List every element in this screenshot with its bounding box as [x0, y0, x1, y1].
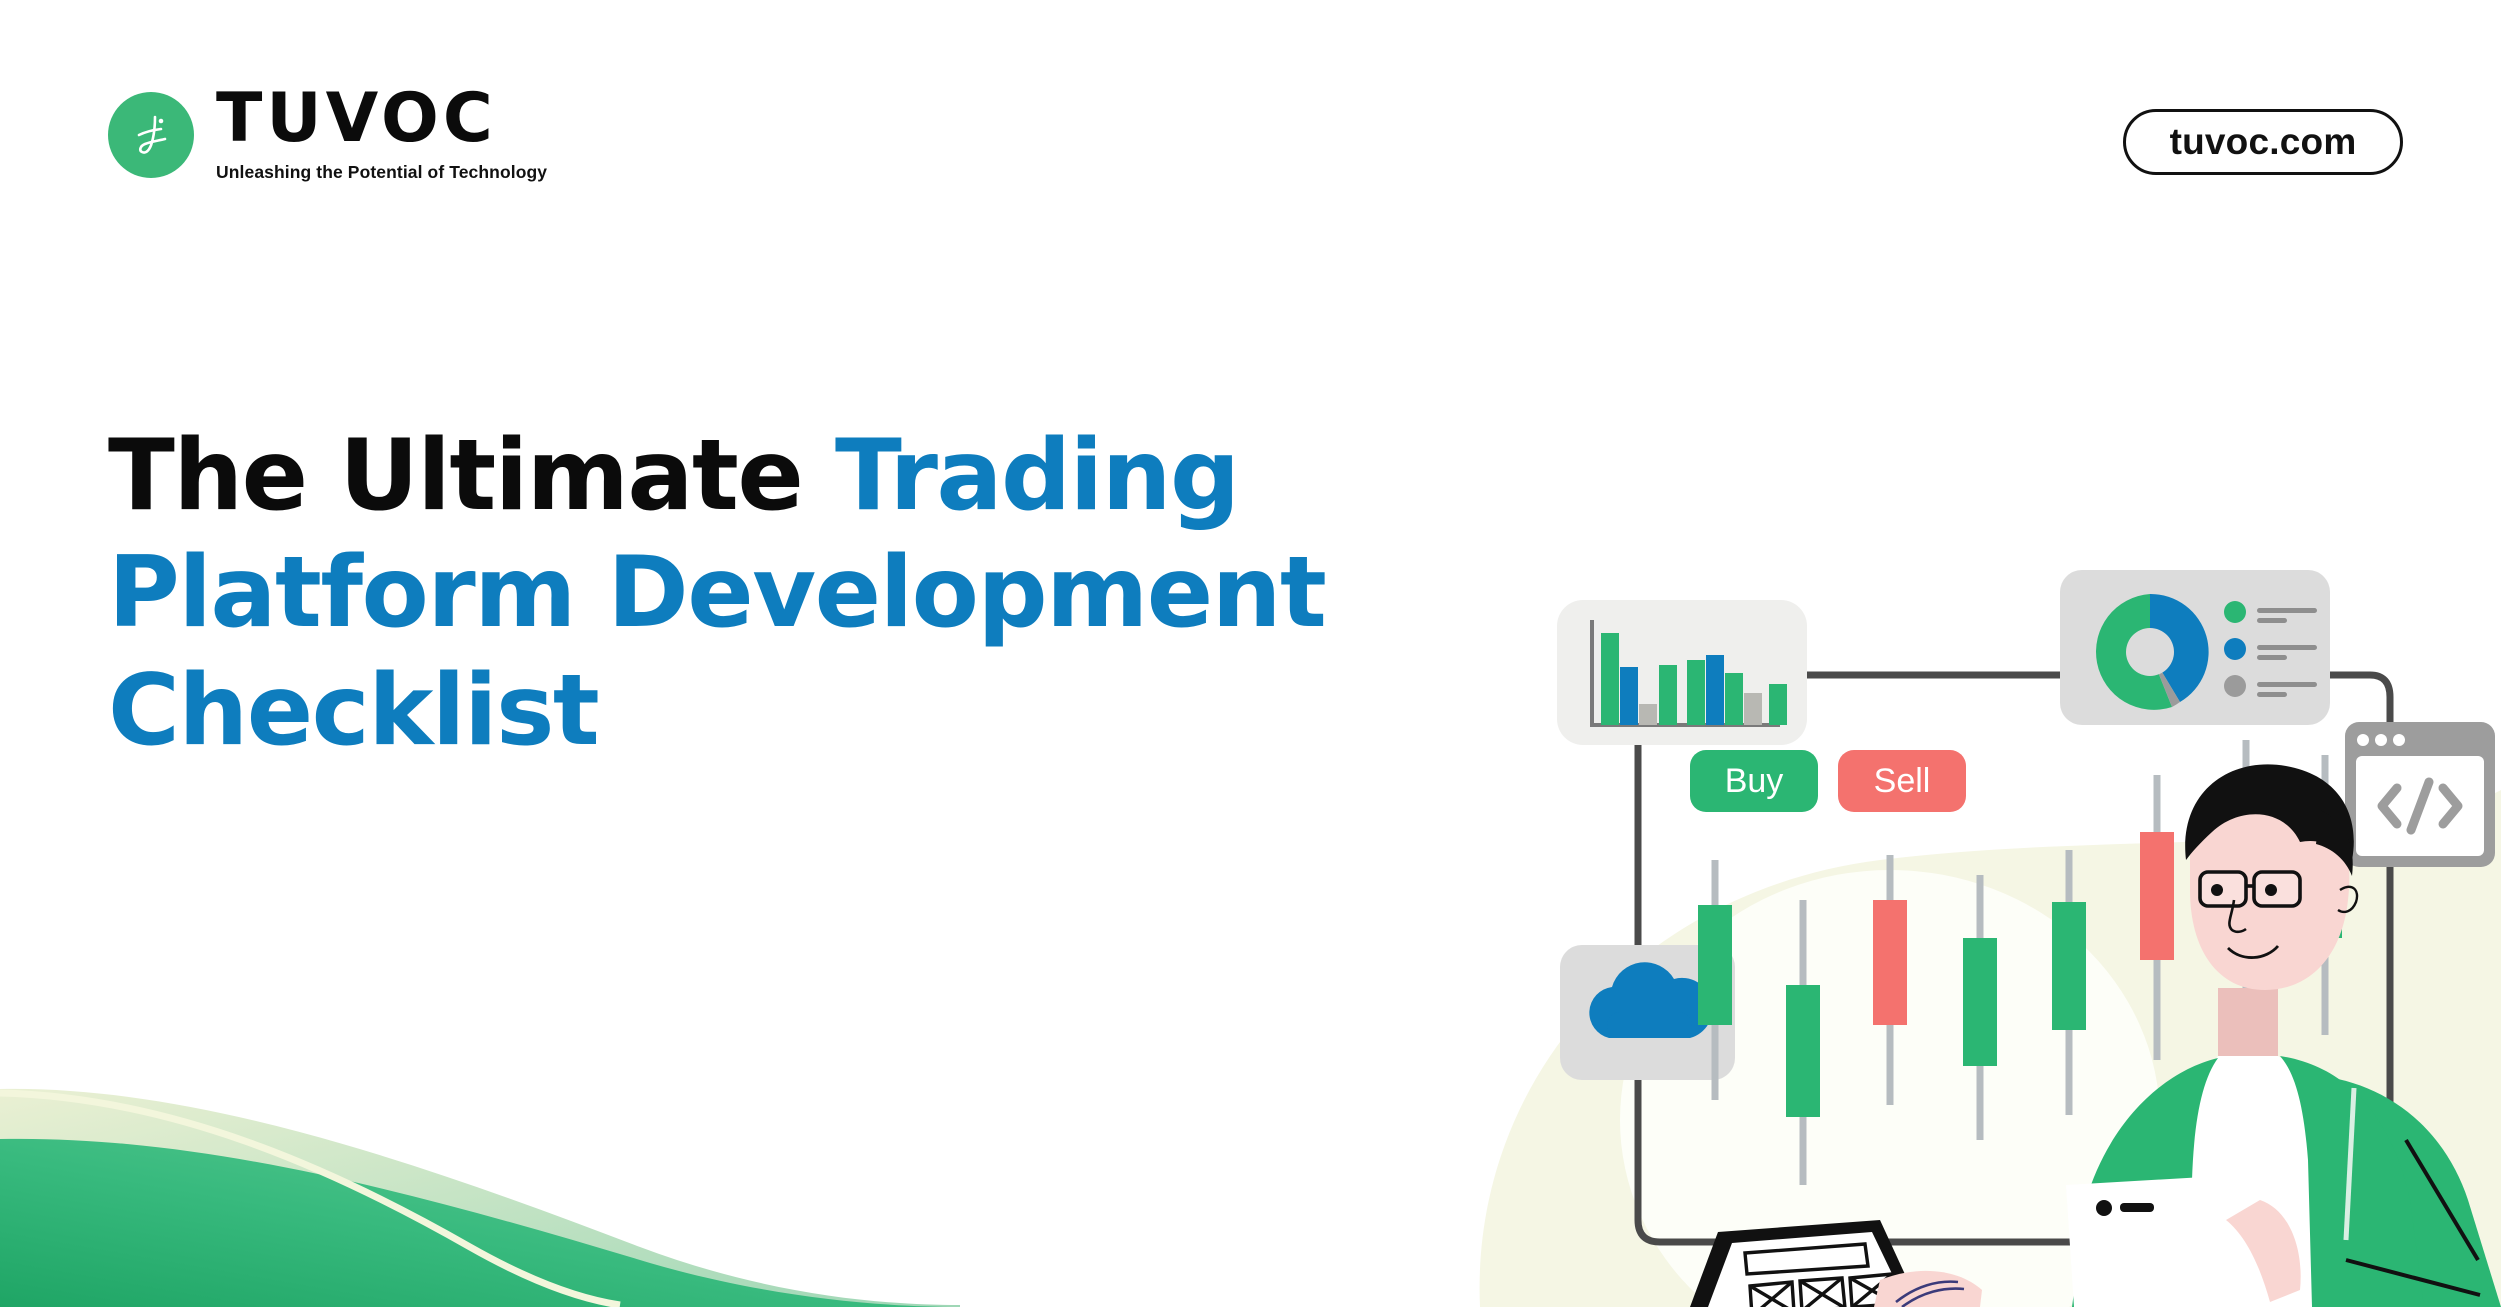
bar-chart-card-bars-b — [1769, 684, 1787, 725]
donut-chart-card — [2060, 570, 2330, 725]
headline-line-2: Platform Development — [108, 536, 1325, 650]
poster-canvas: TUVOC Unleashing the Potential of Techno… — [0, 0, 2501, 1307]
headline-line-3: Checklist — [108, 654, 598, 768]
donut-chart — [2096, 594, 2209, 710]
code-window-card — [2345, 722, 2495, 867]
sell-button-label-wrap[interactable]: Sell — [1838, 750, 1966, 812]
tuvoc-monogram-icon — [108, 92, 194, 178]
brand-tagline: Unleashing the Potential of Technology — [216, 162, 547, 183]
buy-button-label: Buy — [1725, 762, 1784, 801]
buy-button-label-wrap[interactable]: Buy — [1690, 750, 1818, 812]
sell-button-label: Sell — [1874, 762, 1931, 801]
page-title: The Ultimate Trading Platform Developmen… — [108, 418, 1408, 771]
decorative-wave — [0, 1047, 960, 1307]
brand-name: TUVOC — [216, 88, 547, 151]
site-url-badge[interactable]: tuvoc.com — [2123, 109, 2403, 175]
site-url-label: tuvoc.com — [2170, 121, 2357, 163]
headline-segment-black: The Ultimate — [108, 419, 835, 533]
headline-segment-accent: Trading — [835, 419, 1239, 533]
brand-logo: TUVOC Unleashing the Potential of Techno… — [108, 88, 547, 183]
trading-illustration: Buy Sell — [1360, 560, 2501, 1307]
